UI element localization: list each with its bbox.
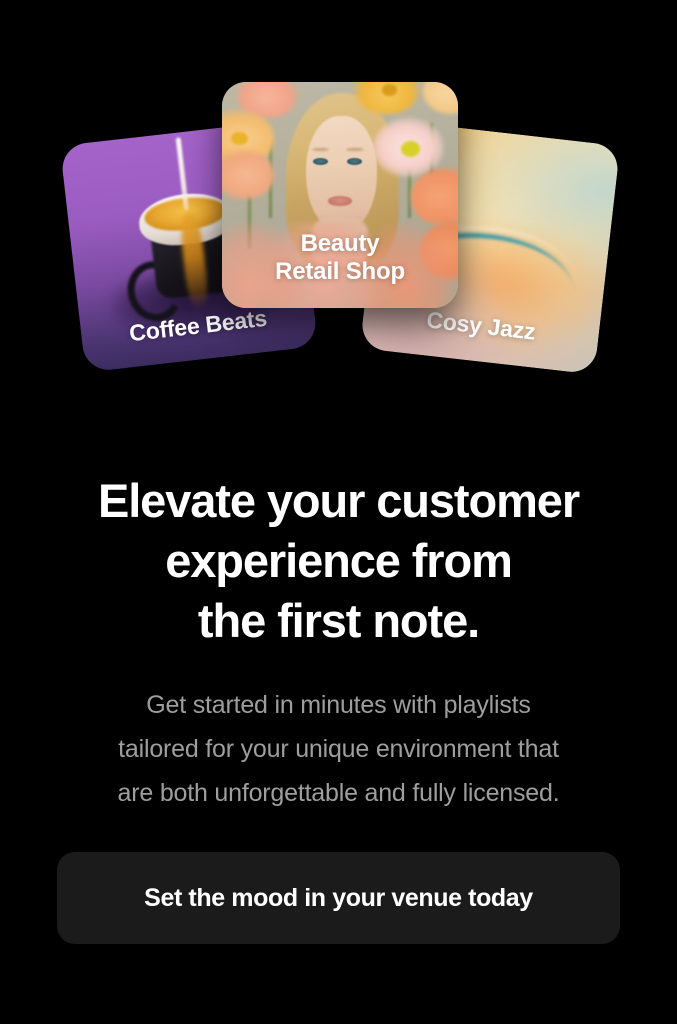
playlist-card-stack: Coffee Beats Cosy Jazz (0, 0, 677, 400)
poppy-center (401, 141, 420, 157)
card-label-line-2: Retail Shop (275, 258, 405, 285)
card-label-beauty-retail-shop: BeautyRetail Shop (222, 230, 458, 286)
hero-subcopy: Get started in minutes with playlists ta… (44, 683, 633, 815)
poppy-center (231, 132, 248, 146)
lips (328, 196, 352, 205)
set-the-mood-cta-button[interactable]: Set the mood in your venue today (57, 852, 620, 944)
card-label-line-1: Beauty (301, 230, 380, 257)
face (306, 116, 377, 234)
eye-right (347, 158, 362, 165)
eye-left (313, 158, 328, 165)
eyebrow-right (346, 148, 364, 152)
hero-headline: Elevate your customer experience from th… (0, 471, 677, 651)
promo-screen: Coffee Beats Cosy Jazz (0, 0, 677, 1024)
playlist-card-beauty-retail-shop[interactable]: BeautyRetail Shop (222, 82, 458, 308)
poppy-center (382, 84, 396, 95)
